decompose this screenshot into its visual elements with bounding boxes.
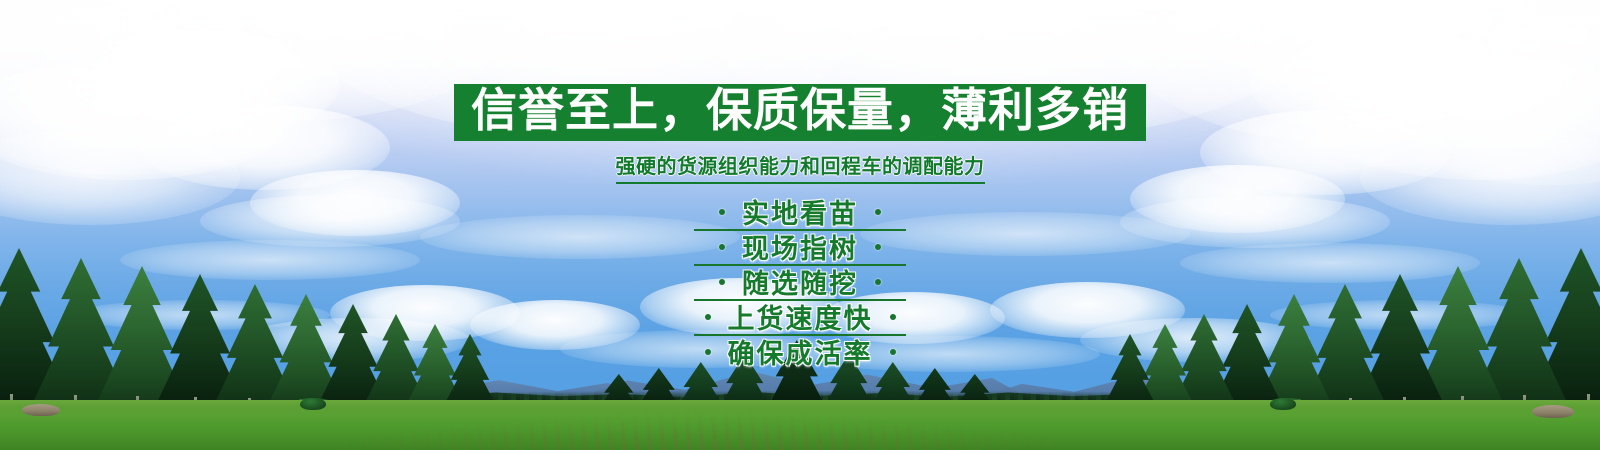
field-rock-left	[22, 404, 60, 416]
subtitle-wrap: 强硬的货源组织能力和回程车的调配能力	[0, 150, 1600, 184]
field-bush-mid-left	[300, 398, 326, 410]
page-title: 信誉至上，保质保量，薄利多销	[471, 87, 1129, 133]
crop-field-rows	[0, 408, 1600, 450]
feature-list: 实地看苗 现场指树 随选随挖 上货速度快 确保成活率	[0, 194, 1600, 369]
bullet-dot-icon	[875, 209, 881, 215]
field-rock-right	[1532, 405, 1574, 418]
bullet-dot-icon	[890, 314, 896, 320]
feature-label: 现场指树	[742, 227, 858, 266]
feature-label: 随选随挖	[742, 262, 858, 301]
banner-content: 信誉至上，保质保量，薄利多销 强硬的货源组织能力和回程车的调配能力 实地看苗 现…	[0, 0, 1600, 369]
feature-item: 现场指树	[0, 229, 1600, 264]
bullet-dot-icon	[890, 349, 896, 355]
bullet-dot-icon	[875, 244, 881, 250]
bullet-dot-icon	[705, 314, 711, 320]
bullet-dot-icon	[705, 349, 711, 355]
feature-item: 实地看苗	[0, 194, 1600, 229]
headline-bar: 信誉至上，保质保量，薄利多销	[454, 84, 1146, 141]
feature-label: 确保成活率	[728, 332, 873, 371]
banner-subtitle: 强硬的货源组织能力和回程车的调配能力	[616, 150, 985, 184]
field-bush-mid-right	[1270, 398, 1296, 410]
bullet-dot-icon	[719, 209, 725, 215]
hero-banner: 信誉至上，保质保量，薄利多销 强硬的货源组织能力和回程车的调配能力 实地看苗 现…	[0, 0, 1600, 450]
feature-item: 上货速度快	[0, 299, 1600, 334]
bullet-dot-icon	[719, 279, 725, 285]
feature-label: 实地看苗	[742, 192, 858, 231]
bullet-dot-icon	[719, 244, 725, 250]
bullet-dot-icon	[875, 279, 881, 285]
feature-item: 确保成活率	[0, 334, 1600, 369]
feature-label: 上货速度快	[728, 297, 873, 336]
feature-item: 随选随挖	[0, 264, 1600, 299]
